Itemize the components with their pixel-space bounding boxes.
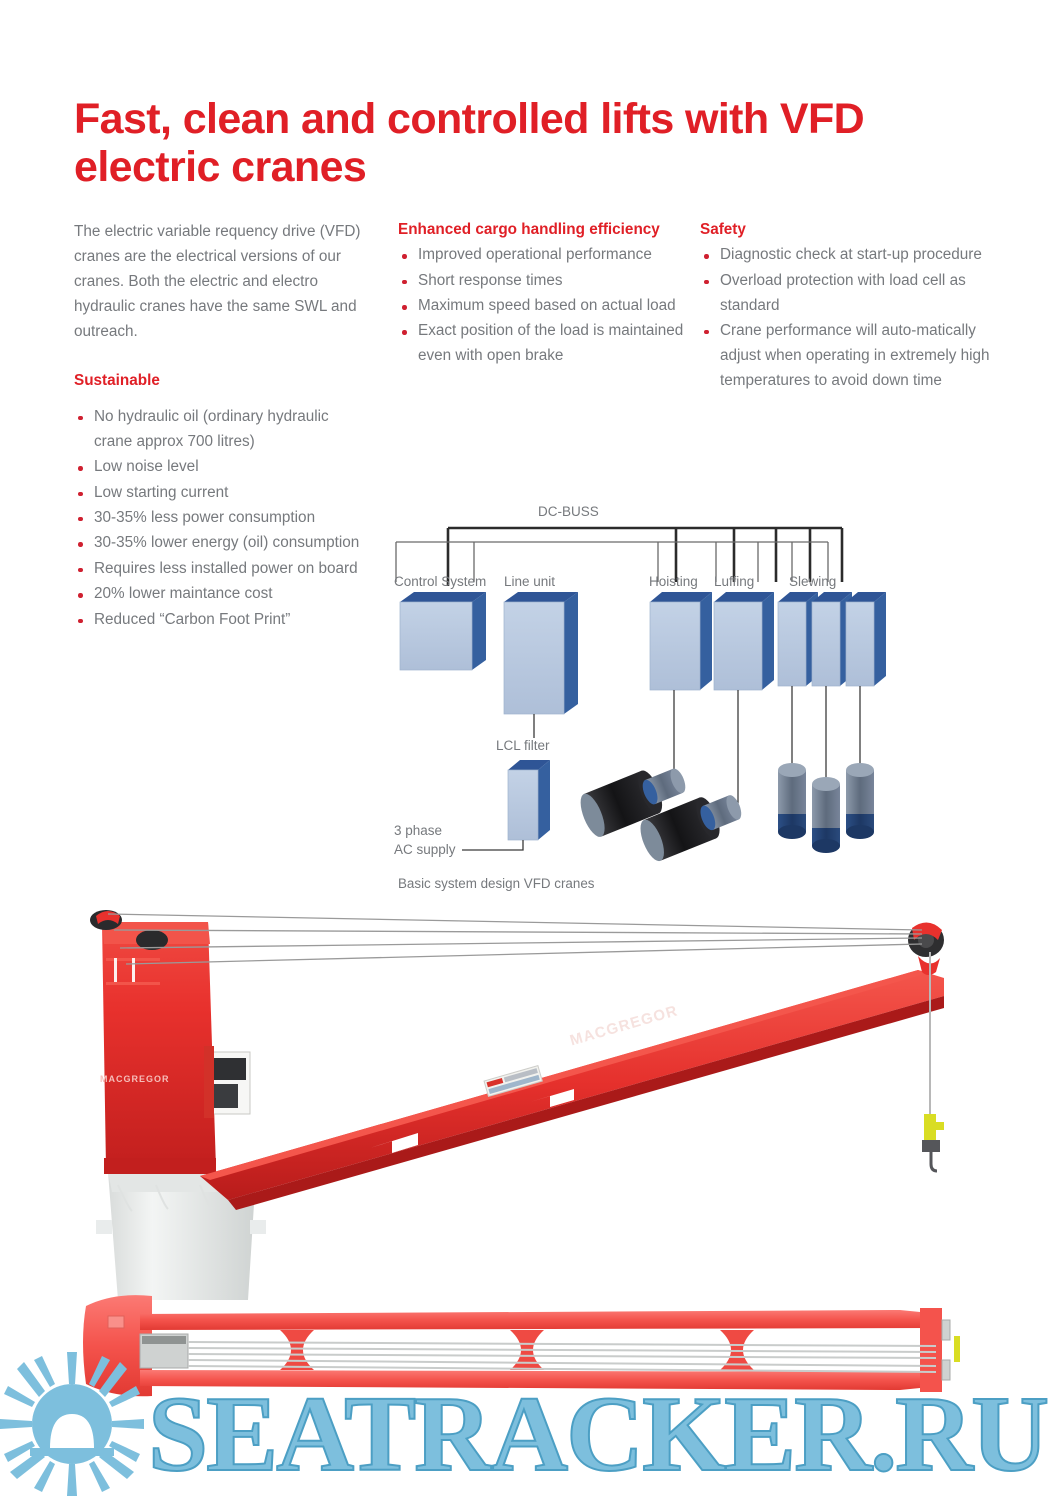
box-hoisting-drive [650,592,712,690]
box-lcl-filter [508,760,550,840]
system-diagram: DC-BUSS [386,498,916,898]
box-line-unit [504,592,578,714]
column-right: Safety Diagnostic check at start-up proc… [700,220,990,394]
list-item: 30-35% lower energy (oil) consumption [74,531,366,556]
bullet-text: Short response times [418,272,563,289]
label-supply-line1: 3 phase [394,823,442,838]
crane-jib: MACGREGOR [200,970,944,1210]
label-control-system: Control System [394,574,486,589]
bullet-text: Improved operational performance [418,246,652,263]
bullet-text: Low noise level [94,458,199,475]
list-item: Improved operational performance [398,243,686,268]
page-title: Fast, clean and controlled lifts with VF… [74,95,994,191]
label-slewing: Slewing [789,574,836,589]
box-luffing-drive [714,592,774,690]
list-item: 30-35% less power consumption [74,506,366,531]
bullet-text: Crane performance will auto-matically ad… [720,322,990,389]
box-control-system [400,592,486,670]
ac-supply-connector [462,840,523,850]
crane-brand-jib: MACGREGOR [568,1002,680,1049]
box-slewing-drive-3 [846,592,886,686]
heading-enhanced-cargo-handling: Enhanced cargo handling efficiency [398,220,686,240]
motor-slewing-1 [778,763,806,839]
efficiency-bullet-list: Improved operational performance Short r… [398,243,686,369]
list-item: Crane performance will auto-matically ad… [700,319,990,394]
heading-sustainable: Sustainable [74,371,366,391]
list-item: No hydraulic oil (ordinary hydraulic cra… [74,405,366,455]
list-item: Overload protection with load cell as st… [700,269,990,319]
list-item: Low noise level [74,455,366,480]
bullet-text: No hydraulic oil (ordinary hydraulic cra… [94,408,329,450]
label-supply-line2: AC supply [394,842,456,857]
bullet-text: 30-35% lower energy (oil) consumption [94,534,359,551]
bullet-text: Overload protection with load cell as st… [720,272,966,314]
bullet-text: Requires less installed power on board [94,560,358,577]
list-item: Low starting current [74,481,366,506]
crane-stay-wires [108,914,922,964]
motor-slewing-3 [846,763,874,839]
bullet-text: 30-35% less power consumption [94,509,315,526]
heading-safety: Safety [700,220,990,240]
bullet-text: Diagnostic check at start-up procedure [720,246,982,263]
crane-photo-top-view [80,1290,1020,1410]
crane-photo-side-view: MACGREGOR MACGREGOR [60,900,1020,1320]
bullet-text: 20% lower maintance cost [94,585,273,602]
sustainable-bullet-list: No hydraulic oil (ordinary hydraulic cra… [74,405,366,633]
column-left: The electric variable requency drive (VF… [74,220,366,633]
crane-hook-block [922,1114,944,1171]
list-item: Short response times [398,269,686,294]
label-hoisting: Hoisting [649,574,698,589]
list-item: Requires less installed power on board [74,557,366,582]
column-middle: Enhanced cargo handling efficiency Impro… [398,220,686,370]
label-line-unit: Line unit [504,574,555,589]
intro-paragraph: The electric variable requency drive (VF… [74,220,366,345]
diagram-caption: Basic system design VFD cranes [398,876,594,891]
list-item: Diagnostic check at start-up procedure [700,243,990,268]
list-item: Reduced “Carbon Foot Print” [74,608,366,633]
crane-brand-housing: MACGREGOR [100,1074,170,1084]
bullet-text: Low starting current [94,484,228,501]
list-item: 20% lower maintance cost [74,582,366,607]
label-luffing: Luffing [714,574,754,589]
bullet-text: Reduced “Carbon Foot Print” [94,611,290,628]
crane-housing: MACGREGOR [90,910,250,1174]
diagram-bus-label: DC-BUSS [538,504,599,519]
motor-slewing-2 [812,777,840,853]
list-item: Exact position of the load is maintained… [398,319,686,369]
page-root: Fast, clean and controlled lifts with VF… [0,0,1058,1497]
safety-bullet-list: Diagnostic check at start-up procedure O… [700,243,990,394]
bullet-text: Exact position of the load is maintained… [418,322,683,364]
bullet-text: Maximum speed based on actual load [418,297,676,314]
label-lcl-filter: LCL filter [496,738,550,753]
list-item: Maximum speed based on actual load [398,294,686,319]
